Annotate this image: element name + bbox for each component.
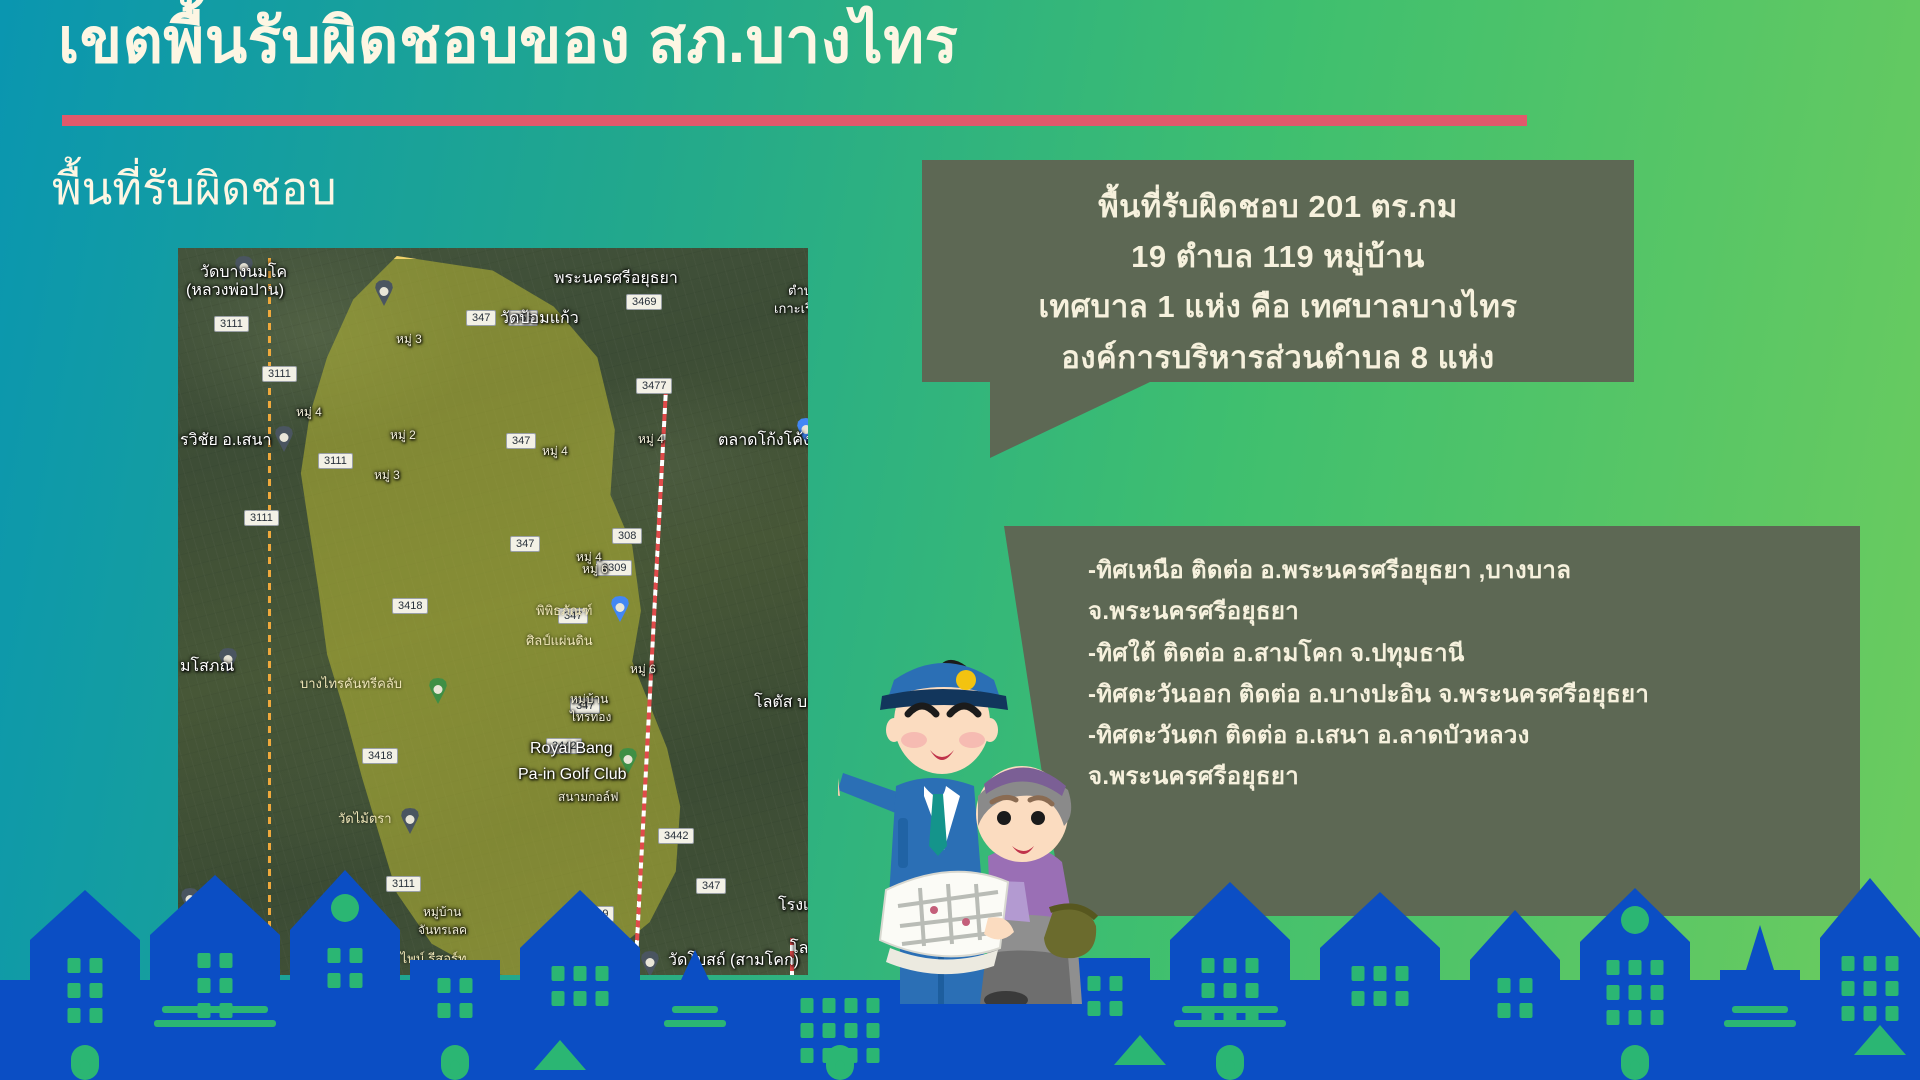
pointing-arm xyxy=(838,773,900,814)
route-shield: 3111 xyxy=(386,876,421,892)
route-shield: 347 xyxy=(570,698,600,714)
boundaries-line-2: จ.พระนครศรีอยุธยา xyxy=(1088,591,1842,632)
area-summary-line-2: 19 ตำบล 119 หมู่บ้าน xyxy=(922,232,1634,282)
boundaries-line-6: จ.พระนครศรีอยุธยา xyxy=(1088,756,1842,797)
area-summary-callout-tail xyxy=(990,382,1150,458)
route-shield: 347 xyxy=(696,878,726,894)
route-shield: 347 xyxy=(466,310,496,326)
responsibility-area-map[interactable]: 3111311131113111311134735634693477347347… xyxy=(178,248,808,975)
area-summary-line-3: เทศบาล 1 แห่ง คือ เทศบาลบางไทร xyxy=(922,282,1634,332)
route-shield: 347 xyxy=(558,608,588,624)
boundaries-callout: -ทิศเหนือ ติดต่อ อ.พระนครศรีอยุธยา ,บางบ… xyxy=(1062,526,1860,916)
police-officer-and-elderly-woman xyxy=(838,618,1138,1004)
route-shield: 3111 xyxy=(214,316,249,332)
area-summary-line-4: องค์การบริหารส่วนตำบล 8 แห่ง xyxy=(922,333,1634,383)
route-shield: 3442 xyxy=(658,828,694,844)
route-shield: 3442 xyxy=(546,738,582,754)
boundaries-line-1: -ทิศเหนือ ติดต่อ อ.พระนครศรีอยุธยา ,บางบ… xyxy=(1088,550,1842,591)
slide-canvas: เขตพื้นรับผิดชอบของ สภ.บางไทร พื้นที่รับ… xyxy=(0,0,1920,1080)
page-title: เขตพื้นรับผิดชอบของ สภ.บางไทร xyxy=(58,6,1358,77)
route-shield: 3309 xyxy=(578,906,614,922)
route-shield: 347 xyxy=(510,536,540,552)
route-shield: 3309 xyxy=(596,560,632,576)
map-pin-resort-icon xyxy=(528,948,546,970)
route-shield: 3477 xyxy=(636,378,672,394)
boundaries-line-3: -ทิศใต้ ติดต่อ อ.สามโคก จ.ปทุมธานี xyxy=(1088,633,1842,674)
area-summary-callout: พื้นที่รับผิดชอบ 201 ตร.กม19 ตำบล 119 หม… xyxy=(922,160,1634,382)
police-officer-head xyxy=(880,660,1008,774)
route-shield: 308 xyxy=(612,528,642,544)
route-shield: 3418 xyxy=(362,748,398,764)
boundaries-line-5: -ทิศตะวันตก ติดต่อ อ.เสนา อ.ลาดบัวหลวง xyxy=(1088,715,1842,756)
title-underline-rule xyxy=(62,115,1527,126)
boundaries-line-4: -ทิศตะวันออก ติดต่อ อ.บางปะอิน จ.พระนครศ… xyxy=(1088,674,1842,715)
route-shield: 347 xyxy=(506,433,536,449)
route-shield: 3469 xyxy=(626,294,662,310)
route-shield: 3111 xyxy=(244,510,279,526)
route-shield: 356 xyxy=(508,310,538,326)
route-shield: 3111 xyxy=(318,453,353,469)
route-shield: 3418 xyxy=(392,598,428,614)
section-subtitle: พื้นที่รับผิดชอบ xyxy=(52,152,337,224)
boundaries-text: -ทิศเหนือ ติดต่อ อ.พระนครศรีอยุธยา ,บางบ… xyxy=(1088,550,1842,798)
area-summary-line-1: พื้นที่รับผิดชอบ 201 ตร.กม xyxy=(922,182,1634,232)
route-shield: 3111 xyxy=(262,366,297,382)
area-summary-text: พื้นที่รับผิดชอบ 201 ตร.กม19 ตำบล 119 หม… xyxy=(922,182,1634,383)
boundary-chain-southeast xyxy=(790,938,794,975)
